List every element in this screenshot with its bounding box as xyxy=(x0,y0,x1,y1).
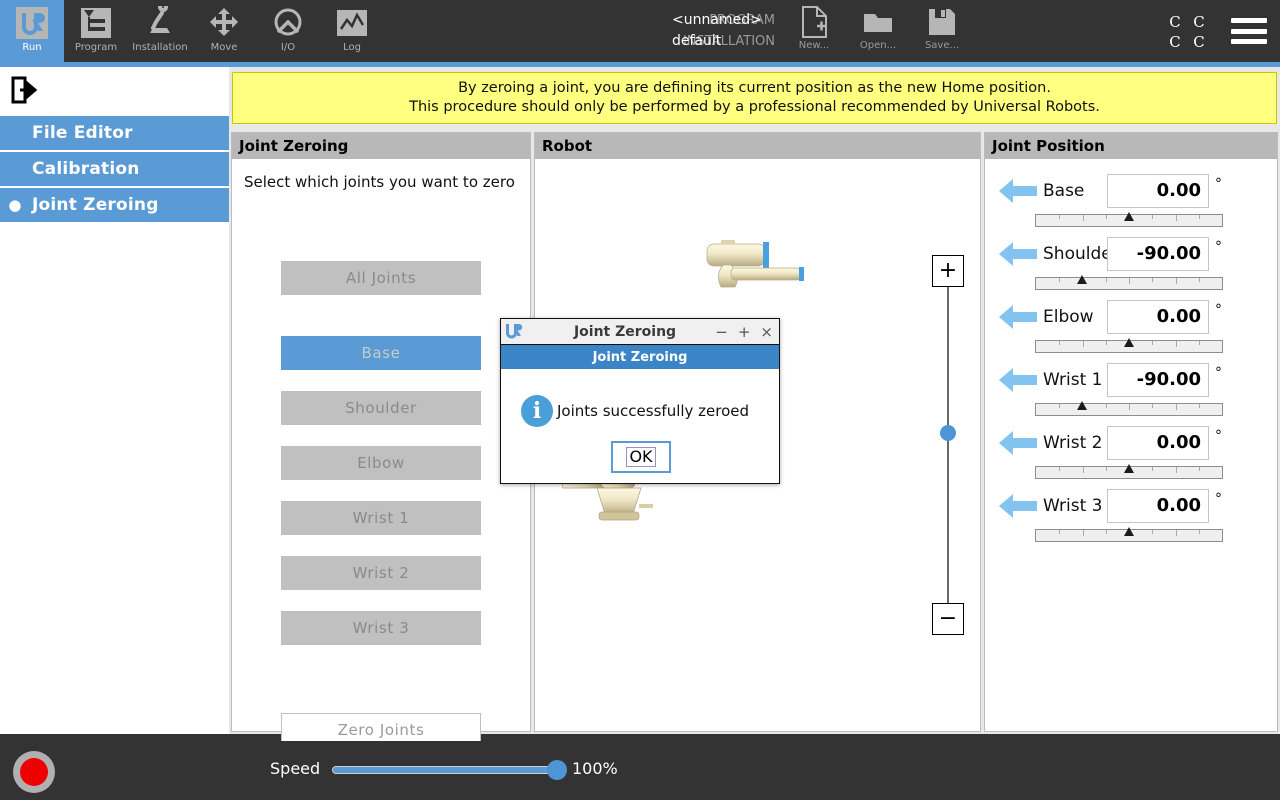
joint-row-base: Base 0.00 ° xyxy=(985,164,1277,226)
sidebar-item-calibration-label: Calibration xyxy=(0,159,140,179)
joint-slider-wrist-1[interactable] xyxy=(1035,403,1223,416)
tab-program-label: Program xyxy=(75,42,117,53)
tab-move[interactable]: Move xyxy=(192,0,256,62)
zoom-slider-handle[interactable] xyxy=(940,425,956,441)
joint-row-wrist-2: Wrist 2 0.00 ° xyxy=(985,416,1277,478)
sidebar-item-calibration[interactable]: Calibration xyxy=(0,152,229,188)
degree-symbol-wrist-3: ° xyxy=(1215,491,1222,507)
dialog-window-controls: − + × xyxy=(715,319,773,345)
tab-io-label: I/O xyxy=(281,42,295,53)
io-gauge-icon xyxy=(271,4,305,42)
dialog-header-title: Joint Zeroing xyxy=(501,345,779,369)
joint-button-all-joints[interactable]: All Joints xyxy=(281,261,481,295)
joint-label-base: Base xyxy=(1043,177,1111,205)
emergency-stop-icon[interactable] xyxy=(13,751,55,793)
warning-banner-line2: This procedure should only be performed … xyxy=(409,98,1100,117)
joint-slider-marker-wrist-3 xyxy=(1124,527,1134,536)
joint-position-panel-title: Joint Position xyxy=(985,133,1277,159)
joint-button-shoulder[interactable]: Shoulder xyxy=(281,391,481,425)
dialog-ur-logo-icon xyxy=(501,323,529,341)
warning-banner-line1: By zeroing a joint, you are defining its… xyxy=(458,79,1051,98)
close-icon[interactable]: × xyxy=(760,325,773,340)
tab-move-label: Move xyxy=(211,42,238,53)
joint-zeroing-panel: Joint Zeroing Select which joints you wa… xyxy=(231,132,531,732)
dialog-message-row: i Joints successfully zeroed xyxy=(501,369,779,427)
status-glyph-2: C xyxy=(1187,12,1211,32)
sidebar-item-joint-zeroing[interactable]: ● Joint Zeroing xyxy=(0,188,229,224)
tab-installation[interactable]: Installation xyxy=(128,0,192,62)
tab-program[interactable]: Program xyxy=(64,0,128,62)
robot-panel-title: Robot xyxy=(535,133,980,159)
exit-arrow-icon[interactable] xyxy=(10,75,40,109)
decrement-arrow-elbow-icon[interactable] xyxy=(999,302,1037,332)
status-glyph-1: C xyxy=(1163,12,1187,32)
joint-row-wrist-1: Wrist 1 -90.00 ° xyxy=(985,353,1277,415)
exit-row xyxy=(0,67,229,116)
log-graph-icon xyxy=(335,4,369,42)
joint-value-base[interactable]: 0.00 xyxy=(1107,174,1209,208)
open-folder-icon xyxy=(863,4,893,40)
joint-label-shoulder: Shoulder xyxy=(1043,240,1111,268)
joint-label-wrist-3: Wrist 3 xyxy=(1043,492,1111,520)
left-sidebar: File Editor Calibration ● Joint Zeroing xyxy=(0,67,229,734)
speed-label: Speed xyxy=(270,759,320,778)
joint-value-wrist-1[interactable]: -90.00 xyxy=(1107,363,1209,397)
move-arrows-icon xyxy=(207,4,241,42)
robot-arm-icon xyxy=(143,4,177,42)
tab-io[interactable]: I/O xyxy=(256,0,320,62)
file-action-buttons: New... Open... Save... xyxy=(782,4,974,60)
degree-symbol-elbow: ° xyxy=(1215,302,1222,318)
joint-button-elbow[interactable]: Elbow xyxy=(281,446,481,480)
sidebar-item-file-editor[interactable]: File Editor xyxy=(0,116,229,152)
tab-installation-label: Installation xyxy=(132,42,187,53)
minimize-icon[interactable]: − xyxy=(715,325,728,340)
degree-symbol-wrist-1: ° xyxy=(1215,365,1222,381)
sidebar-item-joint-zeroing-label: Joint Zeroing xyxy=(30,195,159,215)
degree-symbol-shoulder: ° xyxy=(1215,239,1222,255)
bottom-status-bar: Speed 100% xyxy=(0,741,1280,800)
open-program-label: Open... xyxy=(860,40,896,51)
ur-logo-icon xyxy=(15,4,49,42)
degree-symbol-wrist-2: ° xyxy=(1215,428,1222,444)
installation-name-value: default xyxy=(672,31,762,52)
main-tab-bar: Run Program Installation xyxy=(0,0,384,62)
zoom-in-icon[interactable]: + xyxy=(932,255,964,287)
save-program-label: Save... xyxy=(925,40,959,51)
teach-pendant-screen: Run Program Installation xyxy=(0,0,1280,800)
joint-row-elbow: Elbow 0.00 ° xyxy=(985,290,1277,352)
joint-button-wrist-3[interactable]: Wrist 3 xyxy=(281,611,481,645)
info-icon: i xyxy=(521,395,553,427)
joint-value-wrist-2[interactable]: 0.00 xyxy=(1107,426,1209,460)
selected-bullet-icon: ● xyxy=(0,196,30,214)
tab-run-label: Run xyxy=(22,42,41,53)
tab-log[interactable]: Log xyxy=(320,0,384,62)
joint-label-wrist-2: Wrist 2 xyxy=(1043,429,1111,457)
speed-slider[interactable] xyxy=(332,766,564,774)
program-values: <unnamed> default xyxy=(672,10,762,52)
joint-button-wrist-2[interactable]: Wrist 2 xyxy=(281,556,481,590)
joint-slider-marker-base xyxy=(1124,212,1134,221)
open-program-button[interactable]: Open... xyxy=(846,4,910,60)
speed-value: 100% xyxy=(572,759,618,778)
joint-zeroing-subtitle: Select which joints you want to zero xyxy=(232,159,530,191)
joint-value-wrist-3[interactable]: 0.00 xyxy=(1107,489,1209,523)
joint-position-panel: Joint Position Base 0.00 ° Shoulder -90.… xyxy=(984,132,1278,732)
top-toolbar: Run Program Installation xyxy=(0,0,1280,62)
joint-slider-marker-wrist-2 xyxy=(1124,464,1134,473)
joint-label-wrist-1: Wrist 1 xyxy=(1043,366,1111,394)
joint-position-rows: Base 0.00 ° Shoulder -90.00 ° xyxy=(985,160,1277,731)
joint-slider-marker-wrist-1 xyxy=(1077,401,1087,410)
dialog-ok-label: OK xyxy=(626,447,655,467)
save-program-button[interactable]: Save... xyxy=(910,4,974,60)
joint-value-shoulder[interactable]: -90.00 xyxy=(1107,237,1209,271)
save-floppy-icon xyxy=(928,4,956,40)
decrement-arrow-shoulder-icon[interactable] xyxy=(999,239,1037,269)
decrement-arrow-base-icon[interactable] xyxy=(999,176,1037,206)
zoom-slider-rail[interactable] xyxy=(947,285,949,605)
warning-banner: By zeroing a joint, you are defining its… xyxy=(232,72,1277,124)
joint-slider-shoulder[interactable] xyxy=(1035,277,1223,290)
new-program-button[interactable]: New... xyxy=(782,4,846,60)
tab-log-label: Log xyxy=(343,42,361,53)
joint-zeroing-panel-title: Joint Zeroing xyxy=(232,133,530,159)
hamburger-menu-icon[interactable] xyxy=(1231,18,1267,44)
decrement-arrow-wrist-2-icon[interactable] xyxy=(999,428,1037,458)
degree-symbol-base: ° xyxy=(1215,176,1222,192)
joint-row-wrist-3: Wrist 3 0.00 ° xyxy=(985,479,1277,541)
joint-row-shoulder: Shoulder -90.00 ° xyxy=(985,227,1277,289)
dialog-message-text: Joints successfully zeroed xyxy=(553,402,749,420)
decrement-arrow-wrist-3-icon[interactable] xyxy=(999,491,1037,521)
joint-zeroing-dialog: Joint Zeroing − + × Joint Zeroing i Join… xyxy=(500,318,780,484)
new-program-label: New... xyxy=(799,40,829,51)
dialog-title-bar[interactable]: Joint Zeroing − + × xyxy=(501,319,779,345)
dialog-ok-button[interactable]: OK xyxy=(611,441,671,473)
joint-button-wrist-1[interactable]: Wrist 1 xyxy=(281,501,481,535)
zoom-out-icon[interactable]: − xyxy=(932,603,964,635)
new-file-icon xyxy=(801,4,827,40)
joint-label-elbow: Elbow xyxy=(1043,303,1111,331)
status-glyph-grid: C C C C xyxy=(1163,12,1211,52)
joint-button-base[interactable]: Base xyxy=(281,336,481,370)
program-tree-icon xyxy=(79,4,113,42)
joint-value-elbow[interactable]: 0.00 xyxy=(1107,300,1209,334)
status-glyph-3: C xyxy=(1163,32,1187,52)
speed-slider-handle[interactable] xyxy=(547,760,567,780)
tab-run[interactable]: Run xyxy=(0,0,64,62)
maximize-icon[interactable]: + xyxy=(738,325,751,340)
decrement-arrow-wrist-1-icon[interactable] xyxy=(999,365,1037,395)
joint-slider-marker-elbow xyxy=(1124,338,1134,347)
program-name-value: <unnamed> xyxy=(672,10,762,31)
zoom-control: + − xyxy=(932,255,964,635)
status-glyph-4: C xyxy=(1187,32,1211,52)
joint-slider-marker-shoulder xyxy=(1077,275,1087,284)
sidebar-item-file-editor-label: File Editor xyxy=(0,123,133,143)
